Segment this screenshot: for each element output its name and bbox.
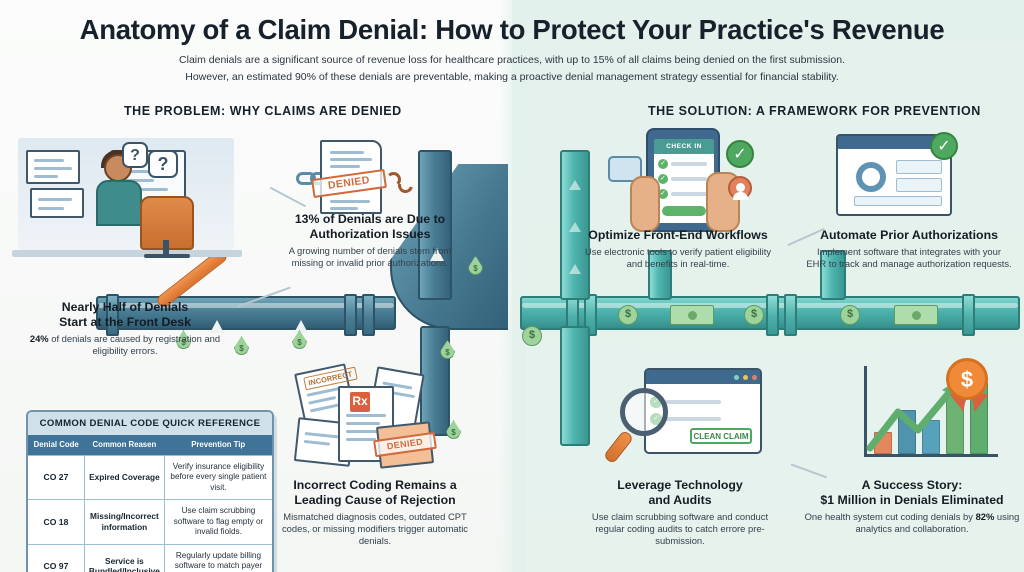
block-body: Mismatched diagnosis codes, outdated CPT… — [270, 511, 480, 548]
table-row: CO 97 Service is Bundled/Inclusive Regul… — [28, 544, 272, 572]
subtitle-line-2: However, an estimated 90% of these denia… — [112, 69, 912, 86]
tablet-screen: CHECK IN ✓ ✓ ✓ — [654, 139, 714, 223]
paper-sheet — [30, 188, 84, 218]
block-incorrect-coding: Incorrect Coding Remains a Leading Cause… — [270, 478, 480, 548]
money-coin-icon: $ — [522, 326, 542, 346]
pipe-solution-downspout — [560, 326, 590, 446]
page-title: Anatomy of a Claim Denial: How to Protec… — [0, 14, 1024, 46]
cell-common-reason: Missing/Incorrect information — [84, 500, 164, 545]
money-bill-icon — [670, 305, 714, 325]
cell-prevention-tip: Verify insurance eligibility before ever… — [164, 455, 272, 500]
clean-claim-badge: CLEAN CLAIM — [690, 428, 752, 444]
hand-left-icon — [630, 176, 660, 232]
block-title: Nearly Half of Denials Start at the Fron… — [14, 300, 236, 330]
money-coin-icon: $ — [744, 305, 764, 325]
pipe-crack-icon — [294, 320, 308, 333]
cell-common-reason: Service is Bundled/Inclusive — [84, 544, 164, 572]
document-line — [304, 440, 330, 445]
cell-prevention-tip: Regularly update billing software to mat… — [164, 544, 272, 572]
money-coin-icon: $ — [840, 305, 860, 325]
pipe-collar — [766, 294, 779, 336]
checklist-bar — [671, 177, 707, 181]
table: Denial Code Common Reasen Prevention Tip… — [28, 435, 272, 572]
window-dot — [752, 375, 757, 380]
denied-stamp: DENIED — [311, 169, 387, 198]
document-line — [330, 165, 360, 168]
pipe-problem-downspout — [420, 326, 450, 436]
block-authorization: 13% of Denials are Due to Authorization … — [272, 212, 468, 269]
table-header: Denial Code Common Reasen Prevention Tip — [28, 435, 272, 455]
pipe-collar — [962, 294, 975, 336]
block-optimize-front-end: Optimize Front-End Workflows Use electro… — [578, 228, 778, 270]
block-title: A Success Story: $1 Million in Denials E… — [804, 478, 1020, 508]
desk-surface — [12, 250, 242, 257]
approved-check-badge-icon: ✓ — [726, 140, 754, 168]
checklist-row: ✓ — [658, 159, 714, 169]
cell-denial-code: CO 97 — [28, 544, 84, 572]
claim-bar — [665, 417, 721, 421]
paper-line — [34, 167, 72, 170]
denial-code-reference-table: COMMON DENIAL CODE QUICK REFERENCE Denia… — [26, 410, 274, 572]
checklist-bar — [671, 162, 707, 166]
document-line — [305, 432, 341, 438]
cell-prevention-tip: Use claim scrubbing software to flag emp… — [164, 500, 272, 545]
window-dot — [734, 375, 739, 380]
paper-line — [34, 159, 64, 162]
document-line — [330, 158, 372, 161]
money-bill-icon — [894, 305, 938, 325]
approved-check-badge-icon: ✓ — [930, 132, 958, 160]
check-icon: ✓ — [658, 174, 668, 184]
document-line — [308, 396, 336, 404]
paper-line — [34, 175, 58, 178]
rx-prescription-icon: Rx — [350, 392, 370, 412]
paper-sheet — [26, 150, 80, 184]
block-title: Automate Prior Authorizations — [806, 228, 1012, 243]
paper-line — [38, 198, 72, 201]
block-leverage-technology: Leverage Technology and Audits Use claim… — [580, 478, 780, 548]
monitor-card — [896, 160, 942, 174]
document-line — [346, 422, 380, 425]
section-heading-problem: THE PROBLEM: WHY CLAIMS ARE DENIED — [124, 104, 402, 118]
document-line — [330, 207, 358, 210]
pipe-collar — [784, 294, 797, 336]
block-success-story: A Success Story: $1 Million in Denials E… — [804, 478, 1020, 535]
tablet-submit-button — [662, 206, 706, 216]
paper-stack-icon — [26, 150, 88, 228]
pipe-solution-main: $ $ $ — [520, 296, 1020, 330]
block-body: A growing number of denials stem from mi… — [272, 245, 468, 269]
claim-bar — [665, 400, 721, 404]
cell-common-reason: Expired Coverage — [84, 455, 164, 500]
denied-document-icon: DENIED — [320, 140, 382, 214]
infographic-canvas: Anatomy of a Claim Denial: How to Protec… — [0, 0, 1024, 572]
monitor-card — [896, 178, 942, 192]
table-body: CO 27 Expired Coverage Verify insurance … — [28, 455, 272, 572]
check-icon: ✓ — [658, 159, 668, 169]
cell-denial-code: CO 27 — [28, 455, 84, 500]
block-front-desk: Nearly Half of Denials Start at the Fron… — [14, 300, 236, 357]
magnifier-icon — [620, 388, 668, 436]
block-title: Incorrect Coding Remains a Leading Cause… — [270, 478, 480, 508]
tablet-header-label: CHECK IN — [654, 139, 714, 154]
cell-denial-code: CO 18 — [28, 500, 84, 545]
question-bubble-icon: ? — [122, 142, 148, 168]
chair-base — [144, 254, 190, 258]
block-title: 13% of Denials are Due to Authorization … — [272, 212, 468, 242]
document-line — [346, 438, 376, 441]
question-bubble-icon: ? — [148, 150, 178, 178]
money-coin-icon: $ — [618, 305, 638, 325]
block-body: One health system cut coding denials by … — [804, 511, 1020, 535]
block-body: Implement software that integrates with … — [806, 246, 1012, 270]
gear-icon — [856, 162, 886, 192]
block-body: 24% of denials are caused by registratio… — [14, 333, 236, 357]
pipe-collar — [362, 294, 375, 336]
block-body: Use electronic tools to verify patient e… — [578, 246, 778, 270]
window-dot — [743, 375, 748, 380]
column-header-tip: Prevention Tip — [164, 435, 272, 455]
table-row: CO 18 Missing/Incorrect information Use … — [28, 500, 272, 545]
section-heading-solution: THE SOLUTION: A FRAMEWORK FOR PREVENTION — [648, 104, 981, 118]
block-title: Leverage Technology and Audits — [580, 478, 780, 508]
table-title: COMMON DENIAL CODE QUICK REFERENCE — [28, 412, 272, 435]
award-medal-icon: $ — [946, 358, 988, 400]
paper-line — [38, 207, 64, 210]
monitor-card — [854, 196, 942, 206]
column-header-code: Denial Code — [28, 435, 84, 455]
document-line — [330, 151, 364, 154]
pipe-solution-riser — [560, 150, 590, 300]
table-header-row: Denial Code Common Reasen Prevention Tip — [28, 435, 272, 455]
block-automate-prior-auth: Automate Prior Authorizations Implement … — [806, 228, 1012, 270]
document-line — [330, 200, 370, 203]
window-titlebar — [646, 370, 760, 384]
document-line — [310, 403, 342, 412]
pipe-collar — [344, 294, 357, 336]
block-title: Optimize Front-End Workflows — [578, 228, 778, 243]
flow-arrow-icon — [569, 180, 581, 190]
document-line — [346, 414, 386, 417]
table-row: CO 27 Expired Coverage Verify insurance … — [28, 455, 272, 500]
subtitle-line-1: Claim denials are a significant source o… — [112, 52, 912, 69]
staff-person-body — [96, 180, 142, 226]
page-subtitle: Claim denials are a significant source o… — [112, 52, 912, 86]
column-header-reason: Common Reasen — [84, 435, 164, 455]
checklist-bar — [671, 192, 707, 196]
patient-avatar-icon — [728, 176, 752, 200]
block-body: Use claim scrubbing software and conduct… — [580, 511, 780, 548]
